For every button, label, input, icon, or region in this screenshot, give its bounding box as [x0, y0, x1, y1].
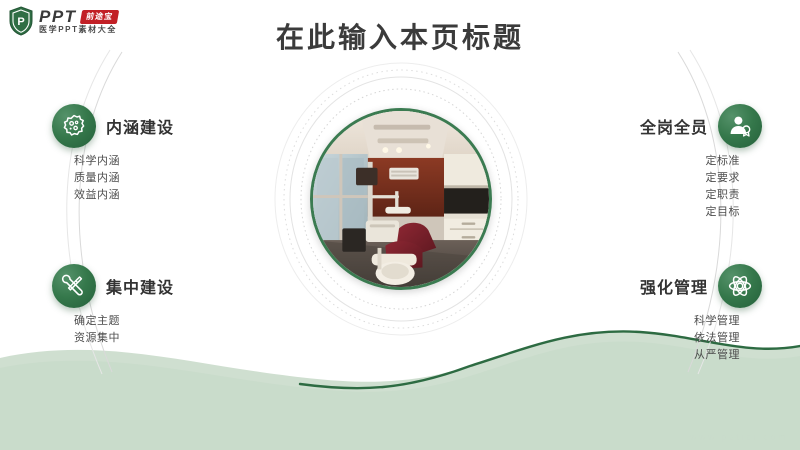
list-item: 定标准	[640, 154, 740, 169]
block-quangang-quanyuan[interactable]: 全岗全员 定标准 定要求 定职责 定目标	[640, 104, 762, 236]
slide-canvas: P PPT 前途宝 医学PPT素材大全 在此输入本页标题	[0, 0, 800, 450]
list-item: 确定主题	[74, 314, 174, 329]
block-item-list: 科学内涵 质量内涵 效益内涵	[52, 154, 174, 203]
list-item: 依法管理	[640, 331, 740, 346]
block-jizhong-jianshe[interactable]: 集中建设 确定主题 资源集中	[52, 264, 174, 362]
block-item-list: 确定主题 资源集中	[52, 314, 174, 346]
center-image-frame	[310, 108, 492, 290]
block-title: 集中建设	[106, 274, 174, 298]
cell-gear-icon[interactable]	[52, 104, 96, 148]
block-title: 全岗全员	[640, 114, 708, 138]
person-badge-icon[interactable]	[718, 104, 762, 148]
list-item: 定要求	[640, 171, 740, 186]
list-item: 科学内涵	[74, 154, 174, 169]
list-item: 定目标	[640, 205, 740, 220]
wrench-tools-icon[interactable]	[52, 264, 96, 308]
list-item: 资源集中	[74, 331, 174, 346]
block-item-list: 科学管理 依法管理 从严管理	[640, 314, 762, 363]
center-photo	[310, 108, 492, 290]
block-qianghua-guanli[interactable]: 强化管理 科学管理 依法管理 从严管理	[640, 264, 762, 379]
page-title: 在此输入本页标题	[0, 16, 800, 56]
list-item: 从严管理	[640, 348, 740, 363]
dental-clinic-illustration	[313, 111, 489, 287]
watermark: www.pptier.com	[690, 432, 788, 442]
list-item: 定职责	[640, 188, 740, 203]
atom-icon[interactable]	[718, 264, 762, 308]
block-title: 强化管理	[640, 274, 708, 298]
list-item: 质量内涵	[74, 171, 174, 186]
block-item-list: 定标准 定要求 定职责 定目标	[640, 154, 762, 220]
block-title: 内涵建设	[106, 114, 174, 138]
list-item: 效益内涵	[74, 188, 174, 203]
block-neihan-jianshe[interactable]: 内涵建设 科学内涵 质量内涵 效益内涵	[52, 104, 174, 219]
list-item: 科学管理	[640, 314, 740, 329]
